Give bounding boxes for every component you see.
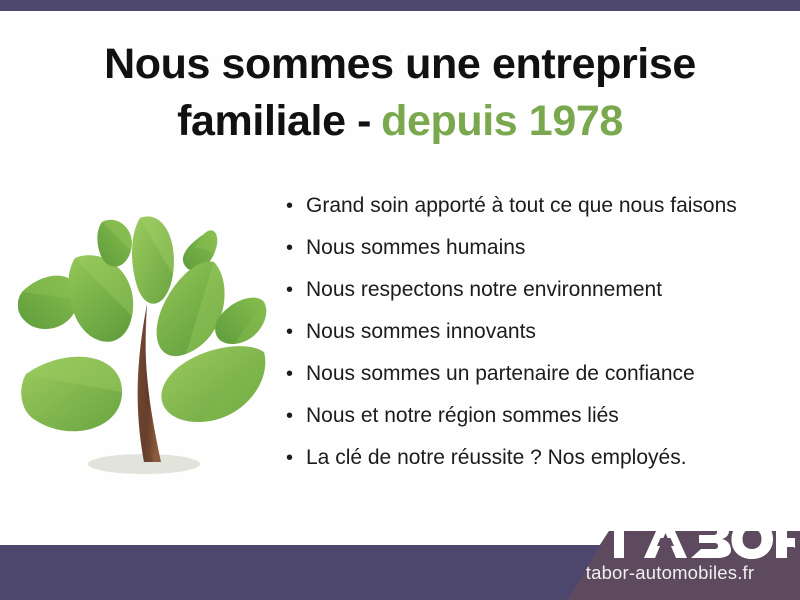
- bullet-icon: •: [286, 192, 306, 220]
- tree-illustration: [18, 196, 270, 488]
- headline-line-2-accent: depuis 1978: [381, 97, 623, 145]
- list-item: • La clé de notre réussite ? Nos employé…: [286, 444, 766, 486]
- list-item-label: Grand soin apporté à tout ce que nous fa…: [306, 192, 737, 220]
- bullet-icon: •: [286, 318, 306, 346]
- leaf-upper-left: [68, 255, 133, 342]
- list-item: • Nous sommes humains: [286, 234, 766, 276]
- headline-line-1: Nous sommes une entreprise: [104, 40, 696, 88]
- list-item-label: Nous sommes un partenaire de confiance: [306, 360, 695, 388]
- bullet-icon: •: [286, 276, 306, 304]
- bullet-icon: •: [286, 444, 306, 472]
- list-item-label: Nous sommes humains: [306, 234, 525, 262]
- list-item: • Nous respectons notre environnement: [286, 276, 766, 318]
- headline-line-2-primary: familiale -: [177, 97, 371, 145]
- list-item: • Grand soin apporté à tout ce que nous …: [286, 192, 766, 234]
- leaf-top-center: [132, 216, 174, 303]
- bullet-icon: •: [286, 234, 306, 262]
- brand-logo-panel: tabor-automobiles.fr: [540, 506, 800, 600]
- leaf-lower-right: [161, 346, 265, 422]
- list-item-label: Nous respectons notre environnement: [306, 276, 662, 304]
- brand-website[interactable]: tabor-automobiles.fr: [540, 562, 800, 584]
- list-item: • Nous et notre région sommes liés: [286, 402, 766, 444]
- list-item-label: La clé de notre réussite ? Nos employés.: [306, 444, 687, 472]
- value-list: • Grand soin apporté à tout ce que nous …: [286, 192, 766, 486]
- list-item: • Nous sommes innovants: [286, 318, 766, 360]
- bullet-icon: •: [286, 360, 306, 388]
- bullet-icon: •: [286, 402, 306, 430]
- top-accent-bar: [0, 0, 800, 11]
- leaf-lower-left: [21, 357, 122, 432]
- list-item-label: Nous sommes innovants: [306, 318, 536, 346]
- brand-wordmark: [595, 518, 795, 560]
- list-item-label: Nous et notre région sommes liés: [306, 402, 619, 430]
- list-item: • Nous sommes un partenaire de confiance: [286, 360, 766, 402]
- slide-canvas: Nous sommes une entreprise familiale -de…: [0, 0, 800, 600]
- page-title: Nous sommes une entreprise familiale -de…: [40, 36, 760, 150]
